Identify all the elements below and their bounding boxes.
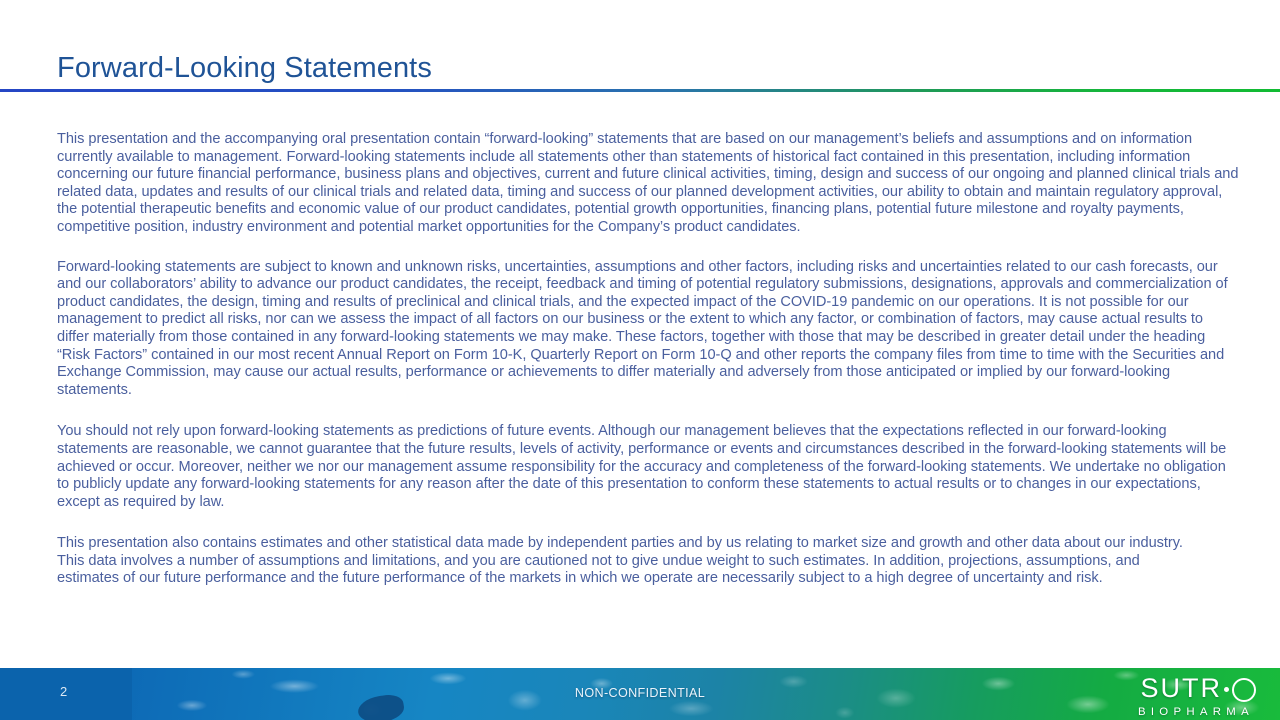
logo-ring-o-icon [1232,678,1256,702]
paragraph-2: Forward-looking statements are subject t… [57,259,1237,400]
logo-tagline: BIOPHARMA [1138,706,1256,718]
sutro-biopharma-logo: SUTR BIOPHARMA [1138,675,1256,718]
paragraph-1: This presentation and the accompanying o… [57,131,1240,237]
logo-wordmark: SUTR [1138,675,1256,702]
page-title: Forward-Looking Statements [57,50,432,86]
logo-wordmark-text: SUTR [1141,675,1223,702]
title-divider-rule [0,89,1280,92]
body-copy: This presentation and the accompanying o… [57,131,1240,588]
confidentiality-label: NON-CONFIDENTIAL [0,686,1280,700]
paragraph-4: This presentation also contains estimate… [57,535,1192,588]
paragraph-3: You should not rely upon forward-looking… [57,423,1235,511]
footer-band: 2 NON-CONFIDENTIAL SUTR BIOPHARMA [0,668,1280,720]
slide-forward-looking-statements: Forward-Looking Statements This presenta… [0,0,1280,720]
logo-dot-icon [1224,687,1229,692]
